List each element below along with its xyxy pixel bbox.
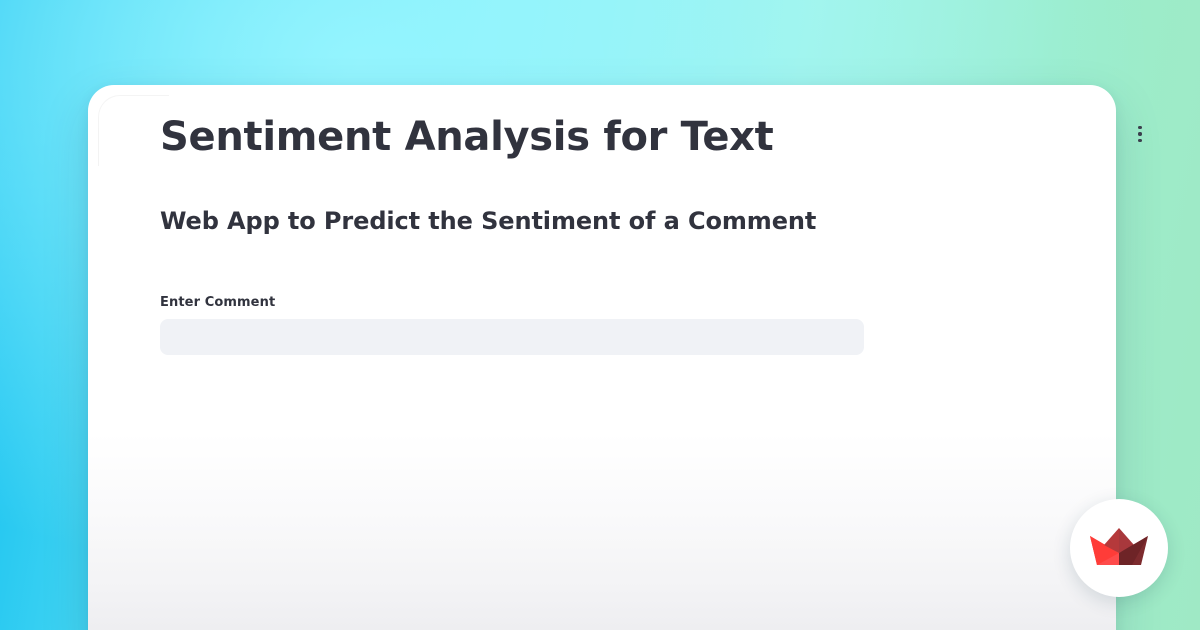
more-vertical-icon-dot-3 [1138, 139, 1141, 142]
streamlit-logo [1089, 525, 1149, 571]
app-content: Sentiment Analysis for Text Web App to P… [160, 115, 1124, 355]
more-vertical-icon-dot-2 [1138, 132, 1141, 135]
comment-input[interactable] [160, 319, 864, 355]
comment-field-label: Enter Comment [160, 294, 864, 312]
overflow-menu-button[interactable] [1124, 118, 1156, 150]
streamlit-logo-badge [1070, 499, 1168, 597]
comment-field-group: Enter Comment [160, 294, 864, 355]
card-corner-highlight [98, 95, 169, 166]
more-vertical-icon-dot-1 [1138, 126, 1141, 129]
page-title: Sentiment Analysis for Text [160, 115, 1124, 160]
preview-canvas: Sentiment Analysis for Text Web App to P… [0, 0, 1200, 630]
page-subtitle: Web App to Predict the Sentiment of a Co… [160, 206, 1124, 236]
